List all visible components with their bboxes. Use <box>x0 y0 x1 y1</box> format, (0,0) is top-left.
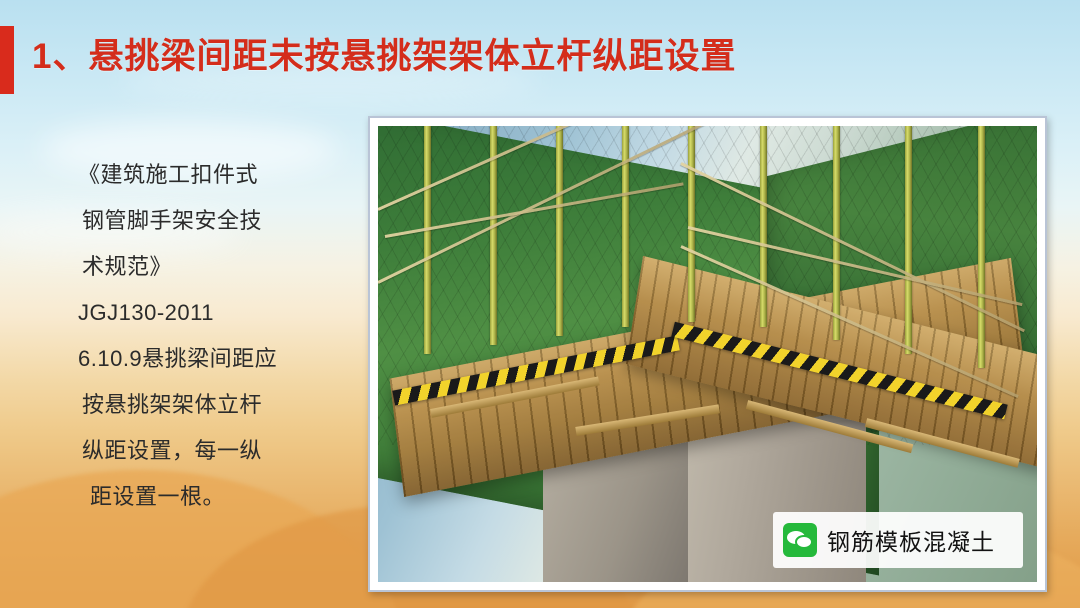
body-text-block: 《建筑施工扣件式 钢管脚手架安全技 术规范》 JGJ130-2011 6.10.… <box>78 152 343 520</box>
body-line: 《建筑施工扣件式 <box>78 152 343 198</box>
body-line: 术规范》 <box>78 244 343 290</box>
scaffold-photo: 钢筋模板混凝土 <box>378 126 1037 582</box>
photo-scaffold-post <box>622 126 629 327</box>
body-line: 按悬挑架架体立杆 <box>78 382 343 428</box>
slide-title-bar: 1、悬挑梁间距未按悬挑架架体立杆纵距设置 <box>0 26 1080 94</box>
watermark-badge: 钢筋模板混凝土 <box>773 512 1023 568</box>
photo-scaffold-post <box>424 126 431 354</box>
body-line: 距设置一根。 <box>78 474 343 520</box>
photo-scaffold-post <box>760 126 767 327</box>
photo-scaffold-post <box>905 126 912 354</box>
slide-root: 1、悬挑梁间距未按悬挑架架体立杆纵距设置 《建筑施工扣件式 钢管脚手架安全技 术… <box>0 0 1080 608</box>
body-line: JGJ130-2011 <box>78 290 343 336</box>
photo-scaffold-post <box>556 126 563 336</box>
photo-frame: 钢筋模板混凝土 <box>368 116 1047 592</box>
wechat-icon <box>783 523 817 557</box>
photo-scaffold-post <box>688 126 695 322</box>
body-line: 6.10.9悬挑梁间距应 <box>78 336 343 382</box>
title-accent-bar <box>0 26 14 94</box>
photo-scaffold-post <box>978 126 985 368</box>
body-line: 钢管脚手架安全技 <box>78 198 343 244</box>
body-line: 纵距设置，每一纵 <box>78 428 343 474</box>
photo-scaffold-post <box>833 126 840 340</box>
page-title: 1、悬挑梁间距未按悬挑架架体立杆纵距设置 <box>32 28 736 79</box>
watermark-label: 钢筋模板混凝土 <box>827 523 995 557</box>
